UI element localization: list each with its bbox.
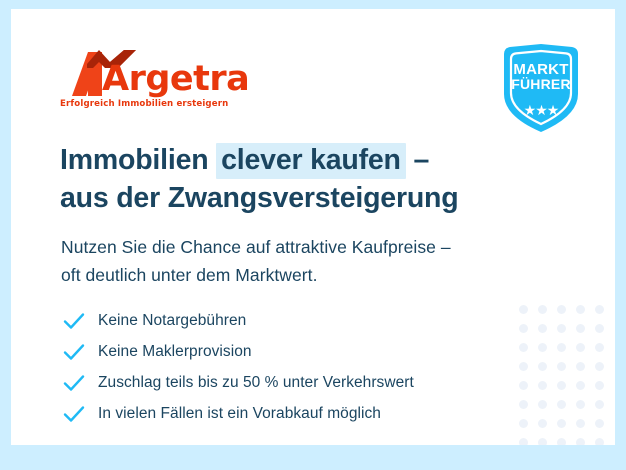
grid-dot bbox=[595, 343, 604, 352]
grid-dot bbox=[576, 324, 585, 333]
grid-dot bbox=[557, 305, 566, 314]
grid-dot bbox=[538, 362, 547, 371]
grid-dot bbox=[557, 324, 566, 333]
dot-grid-decoration bbox=[519, 305, 615, 445]
headline-line1-post: – bbox=[406, 144, 429, 176]
grid-dot bbox=[557, 400, 566, 409]
grid-dot bbox=[519, 438, 528, 445]
grid-dot bbox=[576, 305, 585, 314]
grid-dot bbox=[538, 324, 547, 333]
check-icon bbox=[63, 404, 85, 424]
grid-dot bbox=[538, 419, 547, 428]
grid-dot bbox=[557, 419, 566, 428]
grid-dot bbox=[595, 362, 604, 371]
grid-dot bbox=[576, 400, 585, 409]
argetra-logo: Argetra Erfolgreich Immobilien ersteiger… bbox=[58, 46, 258, 118]
grid-dot bbox=[595, 438, 604, 445]
check-icon bbox=[63, 342, 85, 362]
grid-dot bbox=[538, 400, 547, 409]
grid-dot bbox=[576, 438, 585, 445]
market-leader-badge: MARKT FÜHRER ★★★ bbox=[498, 42, 584, 134]
grid-dot bbox=[557, 362, 566, 371]
grid-dot bbox=[576, 419, 585, 428]
headline-line1-pre: Immobilien bbox=[60, 144, 216, 176]
benefit-label: Zuschlag teils bis zu 50 % unter Verkehr… bbox=[98, 374, 414, 392]
list-item: Keine Maklerprovision bbox=[62, 336, 532, 367]
grid-dot bbox=[538, 343, 547, 352]
grid-dot bbox=[595, 381, 604, 390]
grid-dot bbox=[557, 438, 566, 445]
headline-line2: aus der Zwangsversteigerung bbox=[60, 182, 458, 214]
grid-dot bbox=[538, 305, 547, 314]
list-item: Keine Notargebühren bbox=[62, 305, 532, 336]
list-item: Zuschlag teils bis zu 50 % unter Verkehr… bbox=[62, 367, 532, 398]
grid-dot bbox=[557, 343, 566, 352]
check-icon bbox=[63, 311, 85, 331]
grid-dot bbox=[595, 324, 604, 333]
page-title: Immobilien clever kaufen – aus der Zwang… bbox=[60, 142, 580, 218]
benefit-label: Keine Maklerprovision bbox=[98, 343, 252, 361]
grid-dot bbox=[576, 362, 585, 371]
grid-dot bbox=[538, 381, 547, 390]
subtitle: Nutzen Sie die Chance auf attraktive Kau… bbox=[61, 233, 581, 290]
subtitle-line2: oft deutlich unter dem Marktwert. bbox=[61, 265, 317, 285]
grid-dot bbox=[595, 400, 604, 409]
logo-tagline: Erfolgreich Immobilien ersteigern bbox=[60, 99, 228, 109]
headline-highlight: clever kaufen bbox=[216, 143, 406, 179]
subtitle-line1: Nutzen Sie die Chance auf attraktive Kau… bbox=[61, 237, 451, 257]
list-item: In vielen Fällen ist ein Vorabkauf mögli… bbox=[62, 398, 532, 429]
grid-dot bbox=[576, 381, 585, 390]
grid-dot bbox=[595, 419, 604, 428]
benefits-list: Keine Notargebühren Keine Maklerprovisio… bbox=[62, 305, 532, 429]
grid-dot bbox=[576, 343, 585, 352]
outer-frame: Argetra Erfolgreich Immobilien ersteiger… bbox=[0, 0, 626, 470]
logo-wordmark: Argetra bbox=[102, 62, 249, 97]
grid-dot bbox=[538, 438, 547, 445]
benefit-label: In vielen Fällen ist ein Vorabkauf mögli… bbox=[98, 405, 381, 423]
shield-badge-icon bbox=[498, 42, 584, 134]
benefit-label: Keine Notargebühren bbox=[98, 312, 246, 330]
promo-card: Argetra Erfolgreich Immobilien ersteiger… bbox=[11, 9, 615, 445]
check-icon bbox=[63, 373, 85, 393]
grid-dot bbox=[595, 305, 604, 314]
grid-dot bbox=[557, 381, 566, 390]
